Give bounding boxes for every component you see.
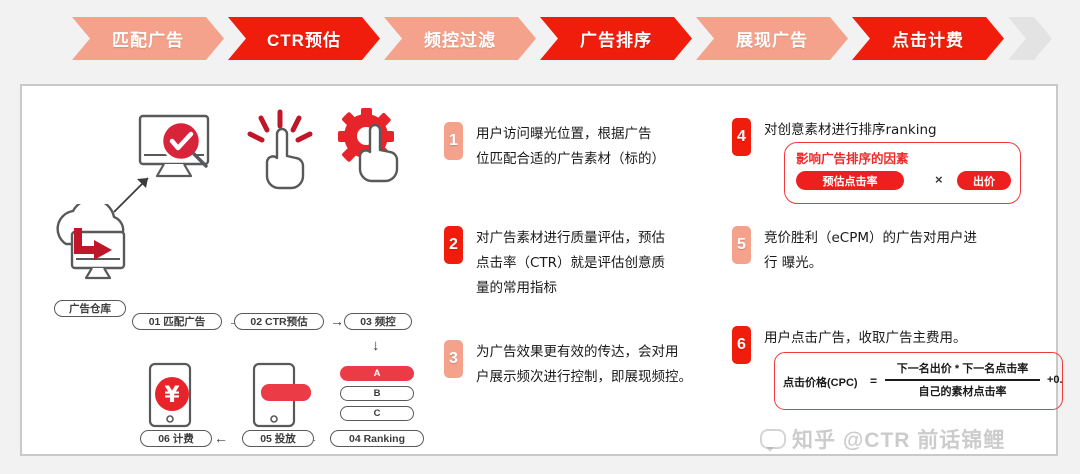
speech-bubble-icon bbox=[760, 429, 786, 449]
banner-step-5-label: 展现广告 bbox=[736, 26, 808, 51]
pill-step-05-label: 05 投放 bbox=[260, 431, 296, 446]
banner-step-4-label: 广告排序 bbox=[580, 26, 652, 51]
step-badge-3: 3 bbox=[444, 340, 463, 378]
banner-step-6-label: 点击计费 bbox=[892, 26, 964, 51]
pill-step-02[interactable]: 02 CTR预估 bbox=[234, 313, 324, 330]
watermark-text: 知乎 @CTR 前话锦鲤 bbox=[792, 424, 1005, 454]
cloud-monitor-icon bbox=[44, 204, 136, 290]
factor-tag-bid-label: 出价 bbox=[973, 173, 995, 189]
rank-row-c-label: C bbox=[374, 408, 381, 419]
ranking-factor-box: 影响广告排序的因素 预估点击率 × 出价 bbox=[784, 142, 1021, 204]
cpc-denominator: 自己的素材点击率 bbox=[885, 383, 1040, 399]
step-item-1: 1 用户访问曝光位置，根据广告 位匹配合适的广告素材（标的） bbox=[444, 122, 665, 172]
rank-row-b-label: B bbox=[374, 388, 381, 399]
pill-ad-warehouse-label: 广告仓库 bbox=[69, 301, 111, 316]
flow-arrow-right-2: → bbox=[330, 314, 344, 328]
pill-step-04-label: 04 Ranking bbox=[349, 433, 405, 445]
phone-yuan-icon: ¥ bbox=[132, 362, 218, 428]
pill-step-01-label: 01 匹配广告 bbox=[149, 314, 206, 329]
banner-step-1[interactable]: 匹配广告 bbox=[72, 17, 224, 60]
banner-step-2[interactable]: CTR预估 bbox=[228, 17, 380, 60]
step-badge-1: 1 bbox=[444, 122, 463, 160]
step-badge-6: 6 bbox=[732, 326, 751, 364]
pill-step-04[interactable]: 04 Ranking bbox=[330, 430, 424, 447]
pill-step-05[interactable]: 05 投放 bbox=[242, 430, 314, 447]
steps-column-right: 4 对创意素材进行排序ranking 影响广告排序的因素 预估点击率 × 出价 … bbox=[722, 86, 1060, 454]
steps-column-left: 1 用户访问曝光位置，根据广告 位匹配合适的广告素材（标的） 2 对广告素材进行… bbox=[432, 86, 727, 454]
flow-arrow-down: ↓ bbox=[372, 338, 380, 353]
banner-step-1-label: 匹配广告 bbox=[112, 26, 184, 51]
ad-serving-flow-diagram: 广告仓库 01 匹配广告 → bbox=[22, 86, 432, 454]
step-badge-5: 5 bbox=[732, 226, 751, 264]
process-step-banner: 匹配广告 CTR预估 频控过滤 广告排序 展现广告 点击计费 bbox=[0, 0, 1080, 76]
banner-step-5[interactable]: 展现广告 bbox=[696, 17, 848, 60]
rank-row-a[interactable]: A bbox=[340, 366, 414, 381]
rank-row-b[interactable]: B bbox=[340, 386, 414, 401]
step-text-1: 用户访问曝光位置，根据广告 位匹配合适的广告素材（标的） bbox=[476, 122, 665, 172]
factor-tag-predicted-ctr[interactable]: 预估点击率 bbox=[796, 171, 904, 190]
step-text-5: 竞价胜利（eCPM）的广告对用户进 行 曝光。 bbox=[764, 226, 977, 276]
banner-tail-arrow bbox=[1008, 17, 1052, 60]
rank-row-a-label: A bbox=[374, 368, 381, 379]
cpc-formula-box: 点击价格(CPC) = 下一名出价 * 下一名点击率 自己的素材点击率 +0.0… bbox=[774, 352, 1063, 410]
pill-step-03[interactable]: 03 频控 bbox=[344, 313, 412, 330]
step-text-2: 对广告素材进行质量评估，预估 点击率（CTR）就是评估创意质 量的常用指标 bbox=[476, 226, 665, 301]
banner-step-3-label: 频控过滤 bbox=[424, 26, 496, 51]
cpc-label: 点击价格(CPC) bbox=[783, 374, 858, 390]
flow-arrow-left-1: ← bbox=[214, 431, 228, 445]
ranking-factor-title: 影响广告排序的因素 bbox=[796, 148, 909, 167]
pill-step-06[interactable]: 06 计费 bbox=[140, 430, 212, 447]
pill-step-06-label: 06 计费 bbox=[158, 431, 194, 446]
factor-tag-bid[interactable]: 出价 bbox=[957, 171, 1011, 190]
banner-step-3[interactable]: 频控过滤 bbox=[384, 17, 536, 60]
step-text-3: 为广告效果更有效的传达，会对用 户展示频次进行控制，即展现频控。 bbox=[476, 340, 692, 390]
svg-text:¥: ¥ bbox=[164, 383, 180, 408]
monitor-check-icon bbox=[134, 110, 218, 192]
pill-step-03-label: 03 频控 bbox=[360, 314, 396, 329]
pill-ad-warehouse[interactable]: 广告仓库 bbox=[54, 300, 126, 317]
pill-step-02-label: 02 CTR预估 bbox=[250, 314, 307, 329]
banner-step-6[interactable]: 点击计费 bbox=[852, 17, 1004, 60]
cpc-fraction-rule bbox=[885, 379, 1040, 381]
pill-step-01[interactable]: 01 匹配广告 bbox=[132, 313, 222, 330]
rank-row-c[interactable]: C bbox=[340, 406, 414, 421]
multiply-operator: × bbox=[935, 172, 943, 187]
banner-step-4[interactable]: 广告排序 bbox=[540, 17, 692, 60]
watermark: 知乎 @CTR 前话锦鲤 bbox=[760, 424, 1005, 454]
step-item-5: 5 竞价胜利（eCPM）的广告对用户进 行 曝光。 bbox=[732, 226, 977, 276]
content-frame: 广告仓库 01 匹配广告 → bbox=[20, 84, 1058, 456]
banner-step-2-label: CTR预估 bbox=[267, 26, 341, 51]
cpc-addend: +0.01 bbox=[1047, 374, 1063, 386]
cpc-numerator: 下一名出价 * 下一名点击率 bbox=[885, 360, 1040, 376]
step-badge-2: 2 bbox=[444, 226, 463, 264]
click-finger-icon bbox=[244, 108, 322, 192]
step-item-2: 2 对广告素材进行质量评估，预估 点击率（CTR）就是评估创意质 量的常用指标 bbox=[444, 226, 665, 301]
step-item-3: 3 为广告效果更有效的传达，会对用 户展示频次进行控制，即展现频控。 bbox=[444, 340, 692, 390]
phone-banner-icon bbox=[234, 362, 326, 428]
gear-hand-icon bbox=[332, 106, 424, 192]
step-badge-4: 4 bbox=[732, 118, 751, 156]
cpc-equals: = bbox=[870, 374, 877, 388]
factor-tag-predicted-ctr-label: 预估点击率 bbox=[823, 173, 878, 189]
